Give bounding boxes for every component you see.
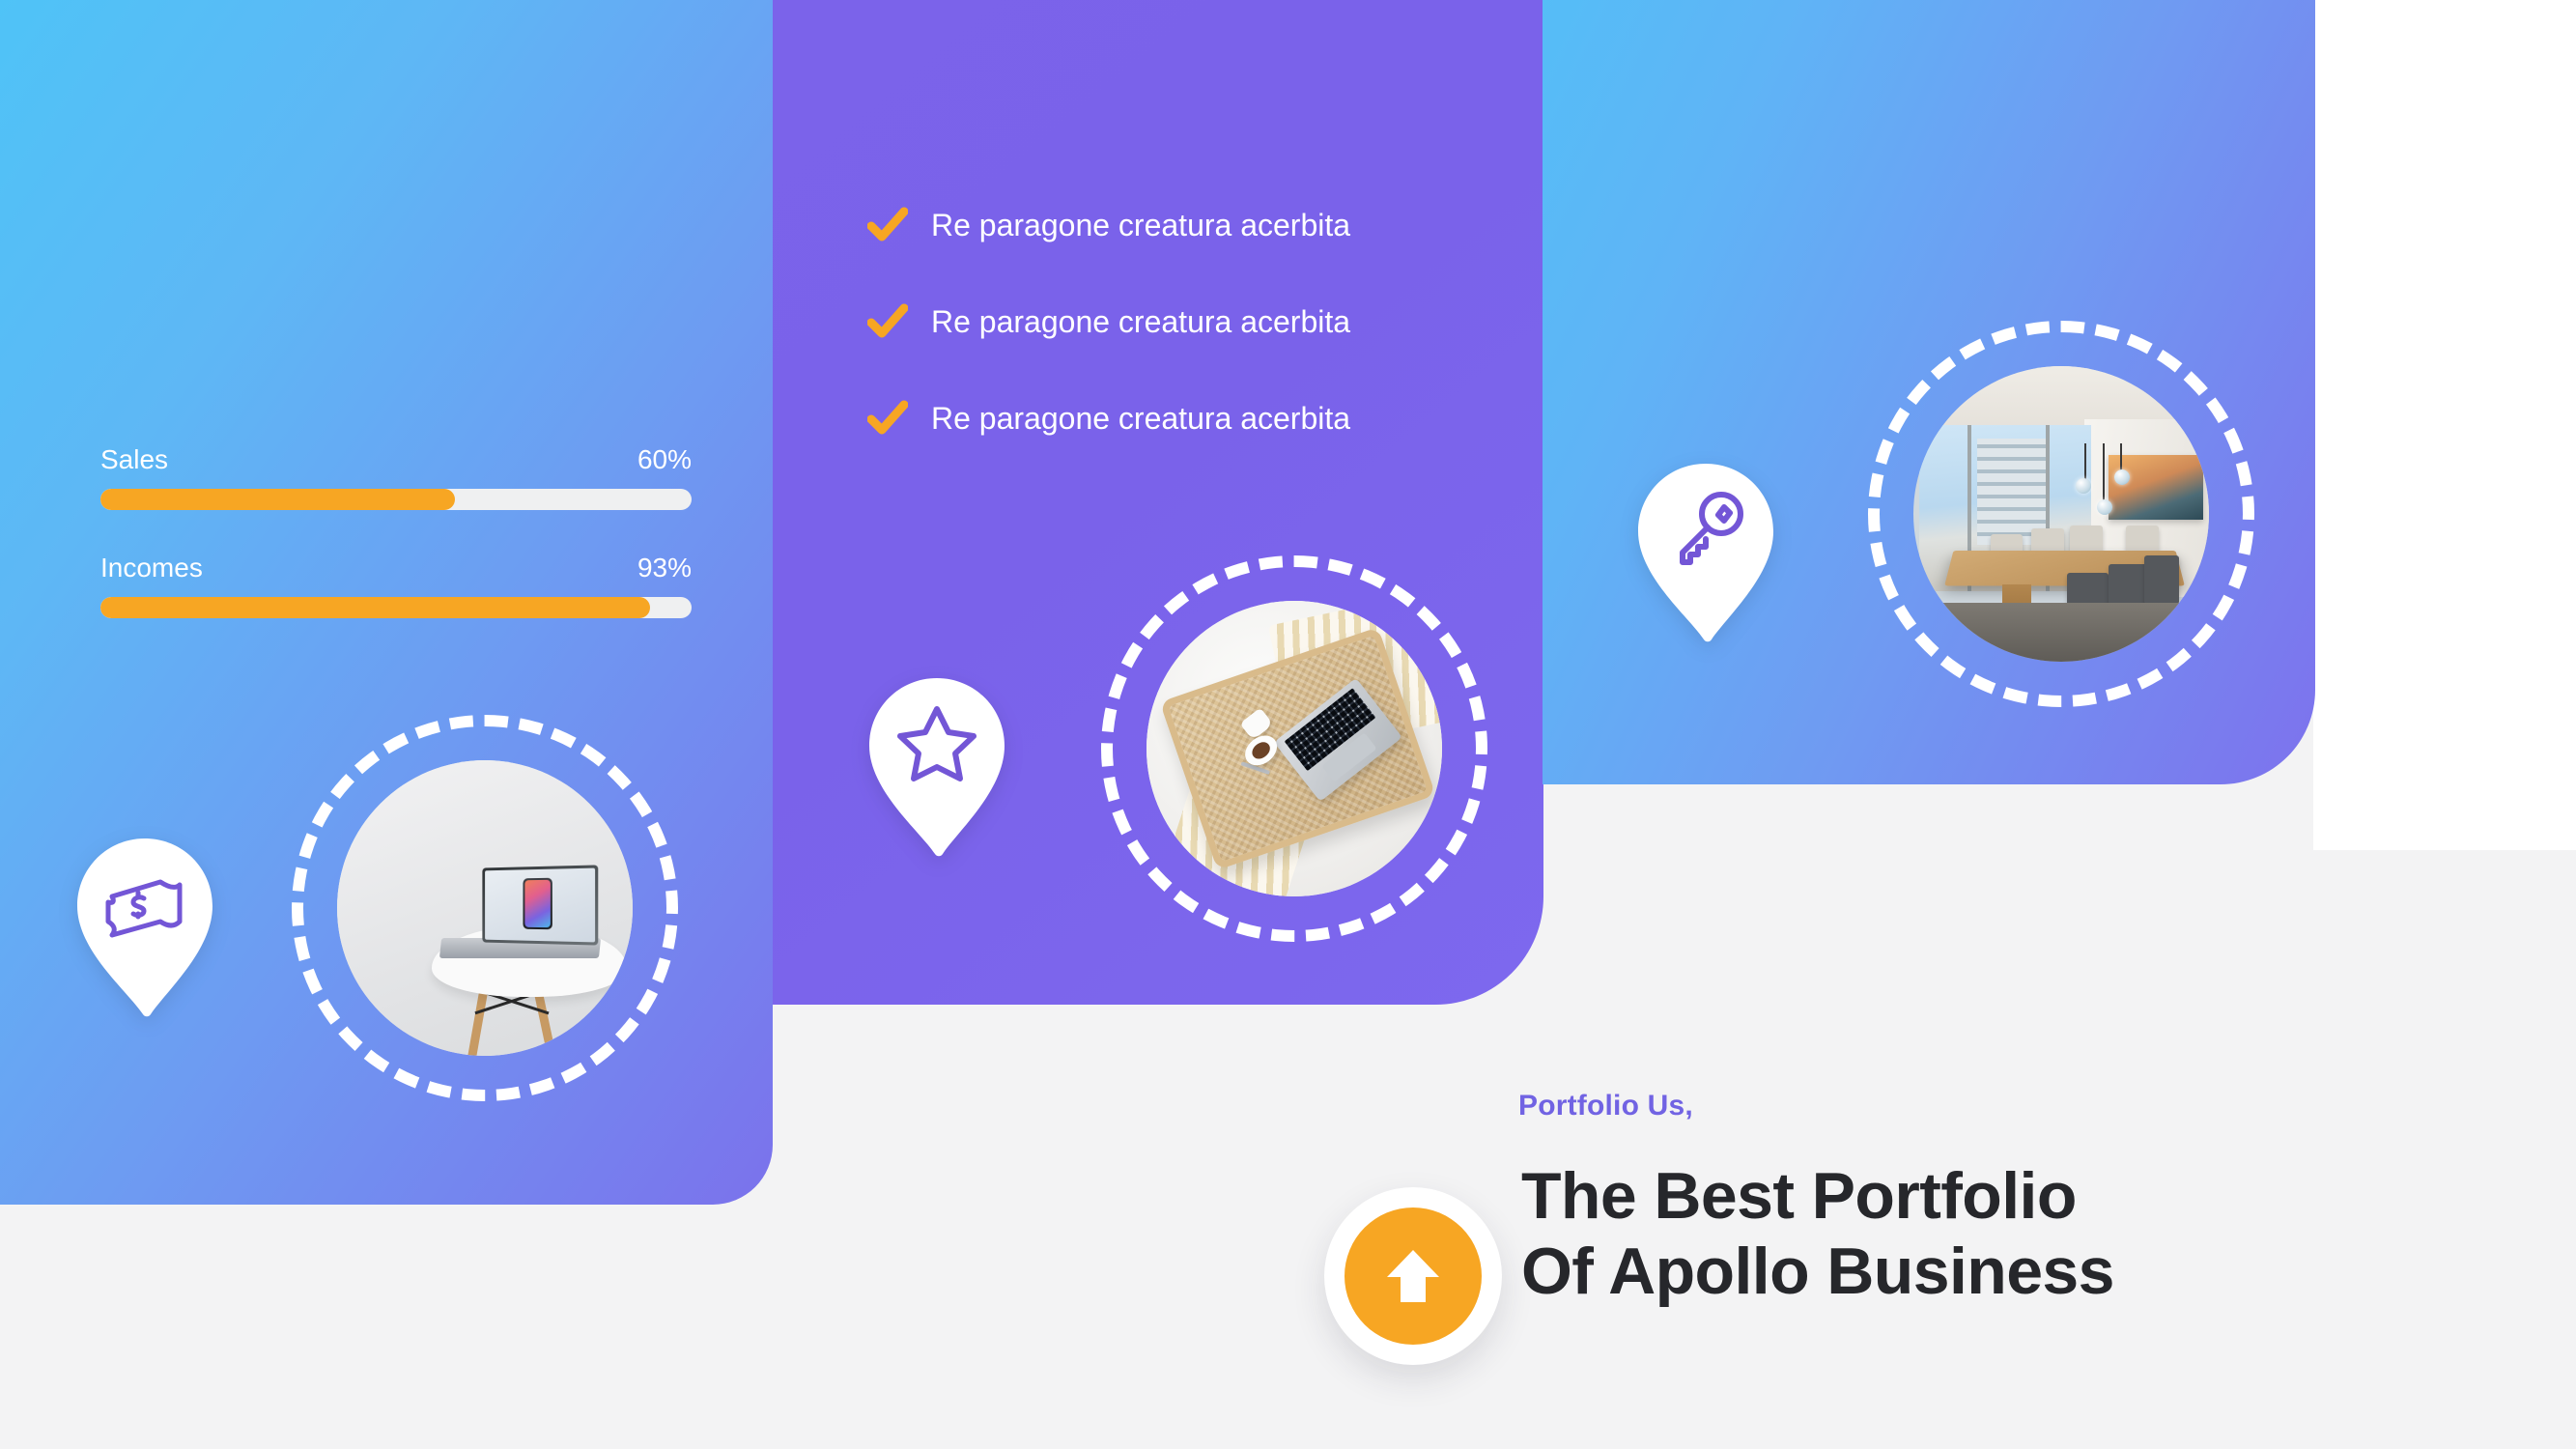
footer-eyebrow: Portfolio Us, (1518, 1090, 1693, 1122)
list-item-label: Re paragone creatura acerbita (931, 208, 1350, 243)
progress-track-sales (100, 489, 692, 510)
progress-fill-sales (100, 489, 455, 510)
star-pin (865, 676, 1008, 858)
marketing-photo-dashed-ring (1101, 555, 1487, 942)
list-item: Re paragone creatura acerbita (867, 301, 1350, 342)
progress-label-incomes: Incomes (100, 553, 203, 583)
headline-line-2: Of Apollo Business (1521, 1235, 2114, 1310)
progress-value-sales: 60% (637, 444, 692, 475)
financial-photo (1868, 321, 2254, 707)
progress-fill-incomes (100, 597, 650, 618)
top-right-white-area (2313, 0, 2576, 850)
progress-label-sales: Sales (100, 444, 168, 475)
progress-row-sales: Sales 60% (100, 444, 692, 510)
check-icon (867, 398, 908, 439)
business-photo (292, 715, 678, 1101)
list-item-label: Re paragone creatura acerbita (931, 304, 1350, 340)
marketing-feature-list: Re paragone creatura acerbita Re paragon… (867, 205, 1350, 495)
financial-photo-dashed-ring (1868, 321, 2254, 707)
progress-row-incomes: Incomes 93% (100, 553, 692, 618)
money-pin (73, 837, 216, 1018)
progress-value-incomes: 93% (637, 553, 692, 583)
list-item-label: Re paragone creatura acerbita (931, 401, 1350, 437)
key-pin (1634, 462, 1777, 643)
business-progress-bars: Sales 60% Incomes 93% (100, 444, 692, 661)
marketing-photo (1101, 555, 1487, 942)
list-item: Re paragone creatura acerbita (867, 398, 1350, 439)
arrow-up-icon (1345, 1207, 1482, 1345)
check-icon (867, 301, 908, 342)
check-icon (867, 205, 908, 245)
headline-line-1: The Best Portfolio (1521, 1159, 2114, 1235)
list-item: Re paragone creatura acerbita (867, 205, 1350, 245)
business-photo-dashed-ring (292, 715, 678, 1101)
arrow-up-badge[interactable] (1324, 1187, 1502, 1365)
infographic-stage: Business Strategies Re paragone creatura… (0, 0, 2576, 1449)
progress-track-incomes (100, 597, 692, 618)
page-title: The Best Portfolio Of Apollo Business (1521, 1159, 2114, 1309)
